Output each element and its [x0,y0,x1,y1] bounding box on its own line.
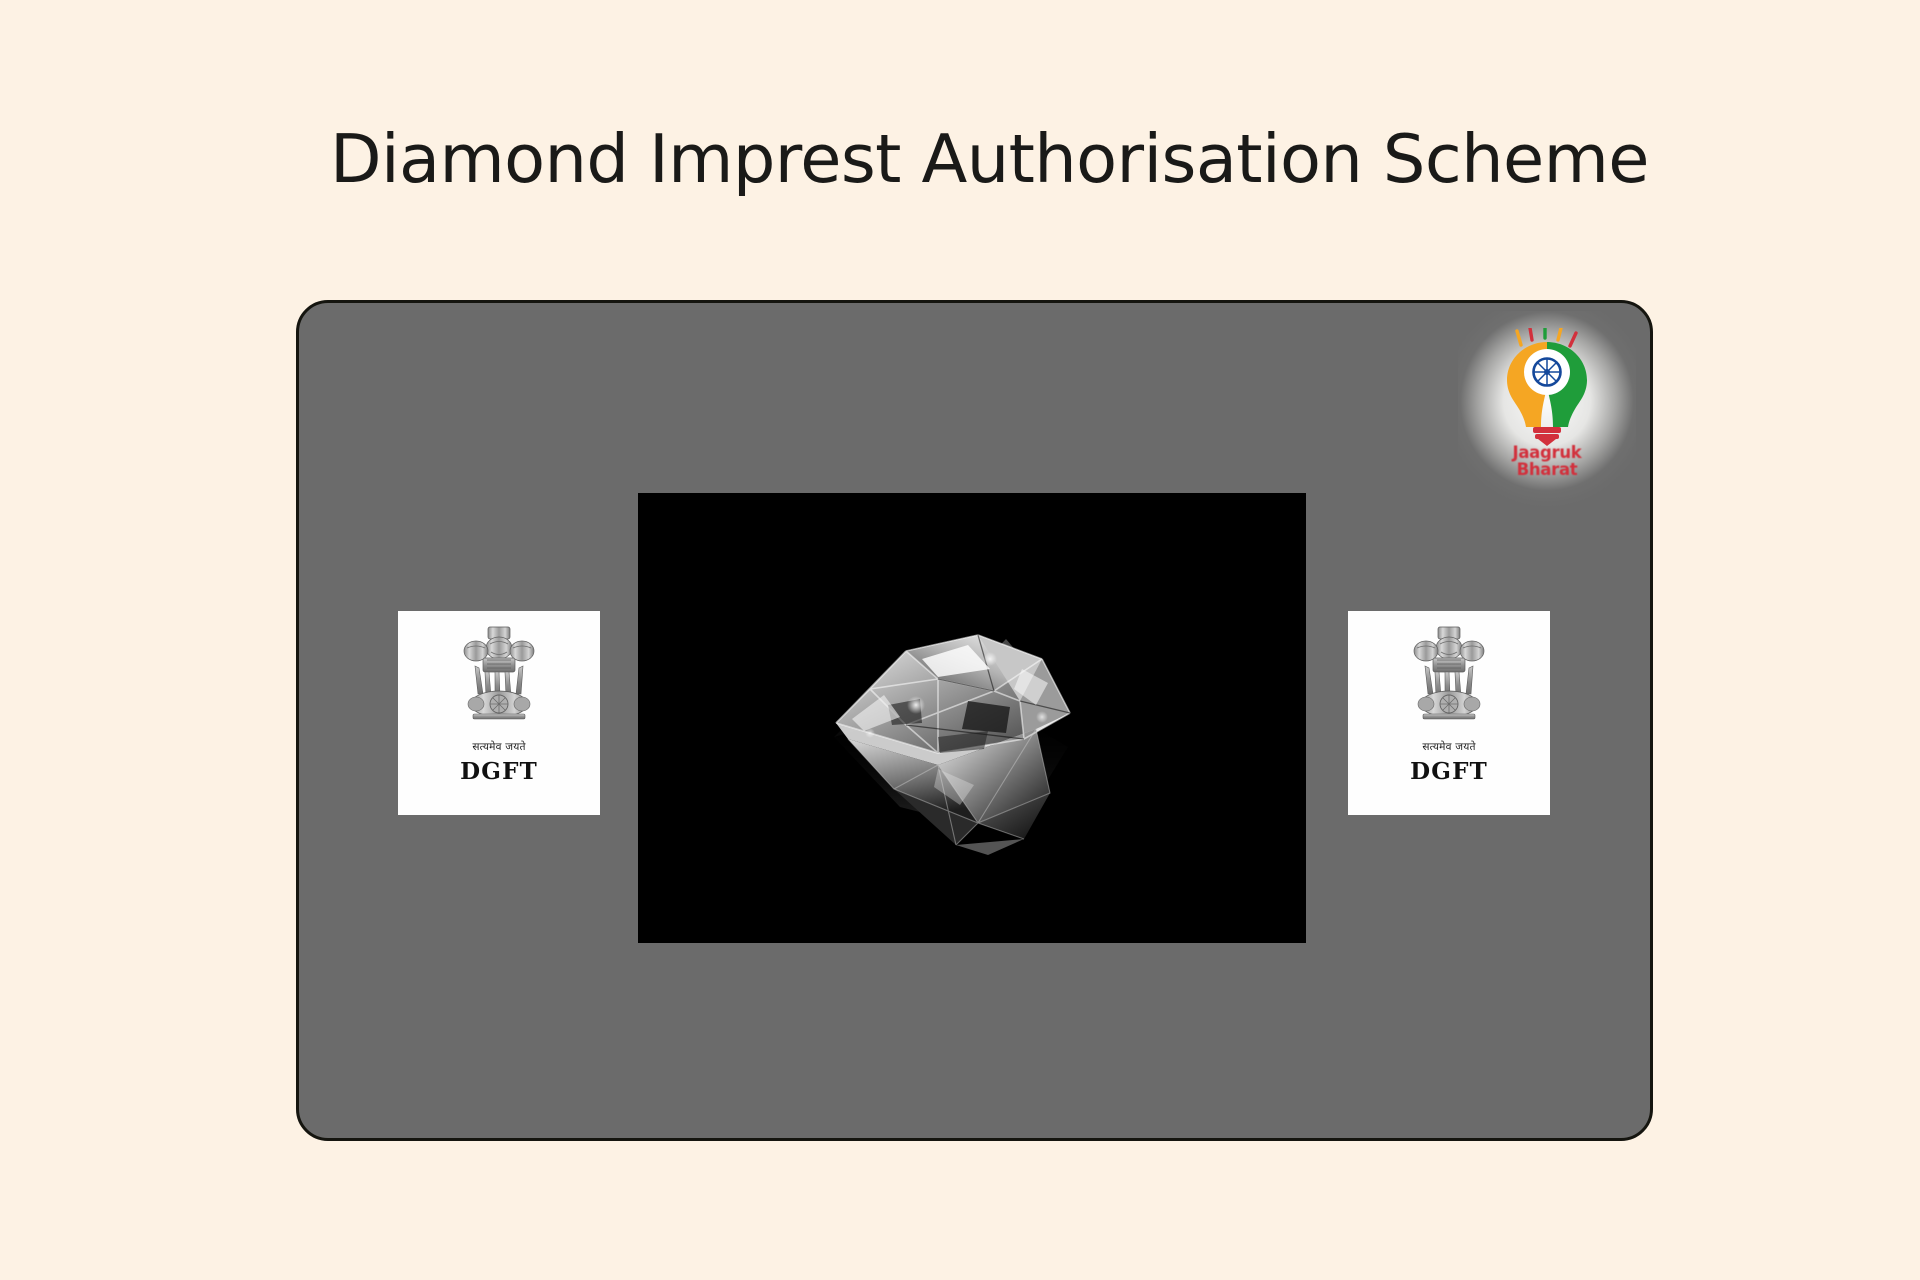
satyameva-jayate-motto: सत्यमेव जयते [472,742,525,753]
dgft-emblem-left: सत्यमेव जयते DGFT [398,611,600,815]
ashoka-lion-capital-icon [1407,624,1491,740]
scheme-card: Jaagruk Bharat [296,300,1653,1141]
brand-line-1: Jaagruk [1513,443,1582,462]
lightbulb-head-icon [1495,328,1599,446]
dgft-emblem-right: सत्यमेव जयते DGFT [1348,611,1550,815]
satyameva-jayate-motto: सत्यमेव जयते [1422,742,1475,753]
jaagruk-bharat-logo: Jaagruk Bharat [1458,311,1636,516]
dgft-label: DGFT [460,760,538,783]
dgft-label: DGFT [1410,760,1488,783]
brand-wordmark: Jaagruk Bharat [1458,444,1636,479]
ashoka-lion-capital-icon [457,624,541,740]
brand-line-2: Bharat [1458,461,1636,478]
diamond-photo [638,493,1306,943]
page-title: Diamond Imprest Authorisation Scheme [330,126,1590,193]
